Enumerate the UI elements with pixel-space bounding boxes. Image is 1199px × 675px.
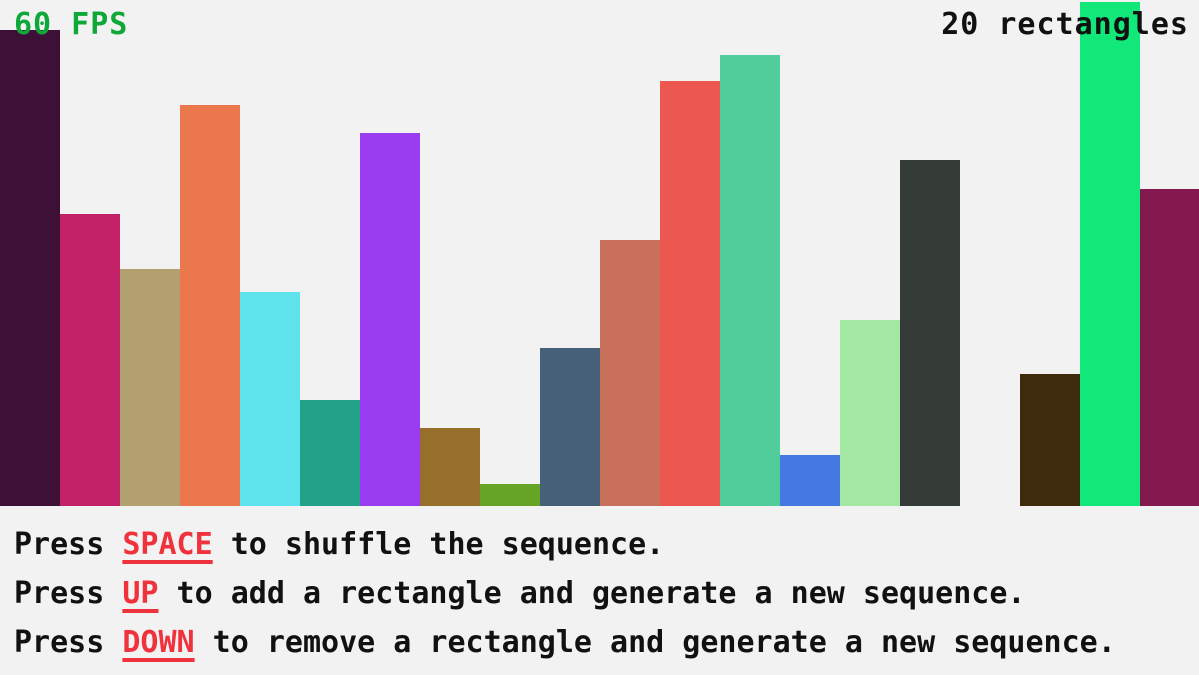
bar-rectangle <box>120 269 180 506</box>
instruction-suffix: to shuffle the sequence. <box>213 527 665 562</box>
bar-rectangle <box>0 30 60 506</box>
bar-rectangle <box>300 400 360 506</box>
instructions-panel: Press SPACE to shuffle the sequence.Pres… <box>0 506 1199 675</box>
app-root: 60 FPS 20 rectangles Press SPACE to shuf… <box>0 0 1199 675</box>
bar-rectangle <box>180 105 240 506</box>
bar-rectangle <box>1140 189 1199 506</box>
keyboard-key-down[interactable]: DOWN <box>122 625 194 660</box>
instruction-suffix: to add a rectangle and generate a new se… <box>159 576 1026 611</box>
bar-rectangle <box>480 484 540 506</box>
bar-rectangle <box>240 292 300 506</box>
rectangle-chart <box>0 0 1199 506</box>
bar-rectangle <box>600 240 660 506</box>
bar-rectangle <box>1080 2 1140 506</box>
instruction-line: Press SPACE to shuffle the sequence. <box>14 520 1199 569</box>
bar-rectangle <box>720 55 780 506</box>
bar-rectangle <box>420 428 480 506</box>
bar-rectangle <box>360 133 420 506</box>
instruction-prefix: Press <box>14 576 122 611</box>
keyboard-key-space[interactable]: SPACE <box>122 527 212 562</box>
instruction-prefix: Press <box>14 625 122 660</box>
keyboard-key-up[interactable]: UP <box>122 576 158 611</box>
instruction-line: Press DOWN to remove a rectangle and gen… <box>14 618 1199 667</box>
bar-rectangle <box>540 348 600 506</box>
bar-rectangle <box>660 81 720 506</box>
instruction-line: Press UP to add a rectangle and generate… <box>14 569 1199 618</box>
bar-rectangle <box>840 320 900 506</box>
instruction-suffix: to remove a rectangle and generate a new… <box>195 625 1116 660</box>
bar-rectangle <box>1020 374 1080 506</box>
fps-counter: 60 FPS <box>14 10 128 40</box>
rectangle-count-label: 20 rectangles <box>941 10 1189 40</box>
bar-rectangle <box>780 455 840 506</box>
bar-rectangle <box>60 214 120 506</box>
bar-rectangle <box>900 160 960 506</box>
instruction-prefix: Press <box>14 527 122 562</box>
